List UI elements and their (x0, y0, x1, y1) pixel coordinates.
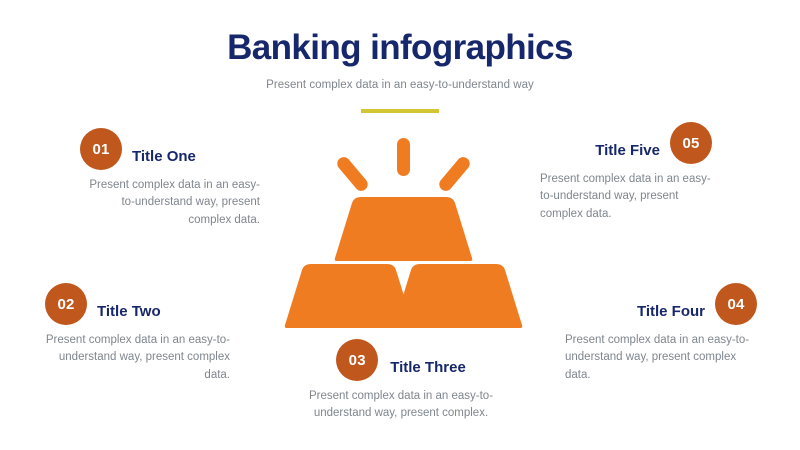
title-divider (361, 109, 439, 113)
item-01-title: Title One (132, 148, 196, 165)
sparkle-center (397, 138, 410, 176)
item-02-header: 02 Title Two (45, 283, 230, 325)
item-03-number-badge: 03 (336, 339, 378, 381)
item-01-header: 01 Title One (80, 128, 260, 170)
item-05-header: Title Five 05 (540, 122, 712, 164)
gold-bar-bottom-right (394, 264, 523, 328)
page-subtitle: Present complex data in an easy-to-under… (0, 79, 800, 91)
item-03-title: Title Three (390, 359, 466, 376)
gold-bar-bottom-left (285, 264, 414, 328)
gold-bars-icon (283, 133, 523, 333)
sparkle-right (437, 155, 473, 194)
item-05-number-badge: 05 (670, 122, 712, 164)
infographic-item-02[interactable]: 02 Title Two Present complex data in an … (45, 283, 230, 384)
infographic-item-05[interactable]: Title Five 05 Present complex data in an… (540, 122, 712, 223)
infographic-item-04[interactable]: Title Four 04 Present complex data in an… (565, 283, 757, 384)
item-05-body: Present complex data in an easy-to-under… (540, 171, 712, 223)
item-02-title: Title Two (97, 303, 161, 320)
item-01-body: Present complex data in an easy-to-under… (80, 177, 260, 229)
sparkle-left (335, 155, 371, 194)
gold-bar-top (335, 197, 473, 261)
item-03-body: Present complex data in an easy-to-under… (290, 388, 512, 423)
infographic-item-01[interactable]: 01 Title One Present complex data in an … (80, 128, 260, 229)
item-03-header: 03 Title Three (290, 339, 512, 381)
item-01-number-badge: 01 (80, 128, 122, 170)
item-04-number-badge: 04 (715, 283, 757, 325)
item-02-number-badge: 02 (45, 283, 87, 325)
infographic-item-03[interactable]: 03 Title Three Present complex data in a… (290, 339, 512, 423)
item-02-body: Present complex data in an easy-to-under… (45, 332, 230, 384)
item-04-title: Title Four (637, 303, 705, 320)
infographic-slide: Banking infographics Present complex dat… (0, 0, 800, 450)
page-title: Banking infographics (0, 28, 800, 67)
item-04-body: Present complex data in an easy-to-under… (565, 332, 757, 384)
item-05-title: Title Five (595, 142, 660, 159)
item-04-header: Title Four 04 (565, 283, 757, 325)
